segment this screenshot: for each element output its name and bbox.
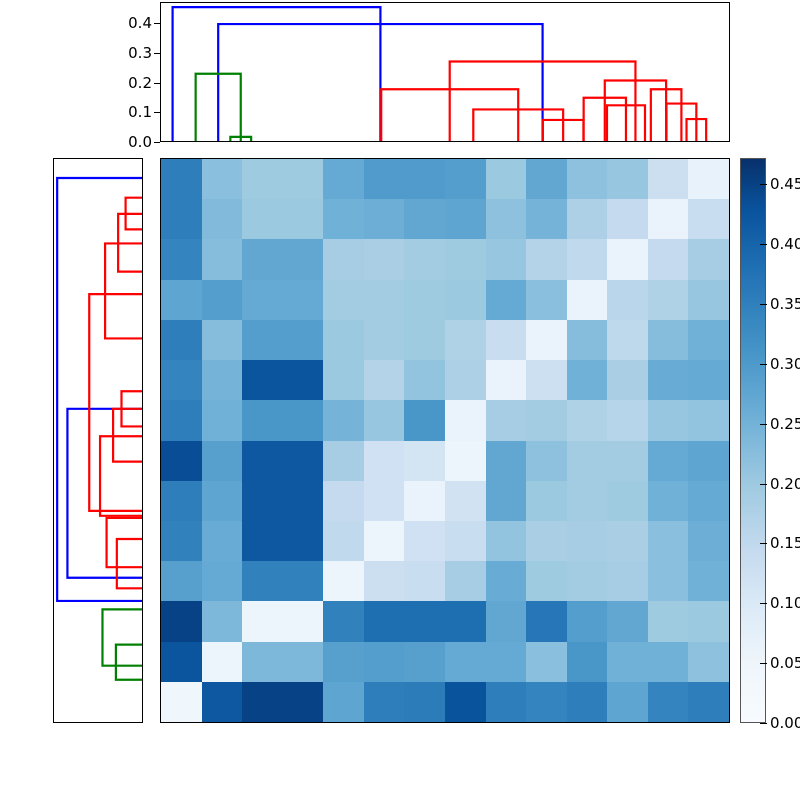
- heatmap-cell: [486, 561, 527, 601]
- heatmap-cell: [648, 280, 689, 320]
- heatmap-cell: [404, 642, 445, 682]
- heatmap-cell: [445, 682, 486, 722]
- heatmap-cell: [202, 601, 243, 641]
- heatmap-cell: [404, 601, 445, 641]
- heatmap-cell: [242, 682, 283, 722]
- heatmap-cell: [364, 561, 405, 601]
- heatmap-cell: [648, 561, 689, 601]
- heatmap-cell: [404, 239, 445, 279]
- heatmap-cell: [323, 441, 364, 481]
- heatmap-cell: [364, 481, 405, 521]
- heatmap-cell: [648, 642, 689, 682]
- heatmap-cell: [283, 320, 324, 360]
- heatmap-cell: [526, 561, 567, 601]
- heatmap-cell: [445, 642, 486, 682]
- heatmap-cell: [161, 682, 202, 722]
- heatmap-cell: [526, 481, 567, 521]
- heatmap-cell: [445, 521, 486, 561]
- heatmap-cell: [688, 642, 729, 682]
- heatmap-cell: [161, 561, 202, 601]
- heatmap-cell: [323, 360, 364, 400]
- colorbar-tick-mark: [760, 304, 767, 305]
- heatmap-cell: [161, 601, 202, 641]
- heatmap-cell: [607, 441, 648, 481]
- heatmap-cell: [607, 320, 648, 360]
- colorbar-tick-label: 0.30: [770, 355, 800, 373]
- colorbar-tick-mark: [760, 184, 767, 185]
- heatmap-cell: [486, 159, 527, 199]
- heatmap-cell: [567, 481, 608, 521]
- heatmap-cell: [688, 441, 729, 481]
- heatmap-cell: [323, 481, 364, 521]
- heatmap-cell: [567, 360, 608, 400]
- heatmap-cell: [283, 199, 324, 239]
- heatmap-cell: [526, 159, 567, 199]
- colorbar-tick-mark: [760, 603, 767, 604]
- heatmap-cell: [242, 360, 283, 400]
- col-dendrogram: [160, 2, 730, 142]
- heatmap-cell: [404, 199, 445, 239]
- colorbar-tick-label: 0.15: [770, 534, 800, 552]
- colorbar-tick-mark: [760, 424, 767, 425]
- heatmap-cell: [688, 521, 729, 561]
- heatmap-cell: [567, 320, 608, 360]
- heatmap-cell: [526, 441, 567, 481]
- heatmap-cell: [607, 642, 648, 682]
- heatmap-cell: [445, 159, 486, 199]
- heatmap-cell: [526, 521, 567, 561]
- heatmap-cell: [161, 360, 202, 400]
- heatmap-cell: [242, 159, 283, 199]
- heatmap-cell: [526, 199, 567, 239]
- col-dendrogram-svg: [161, 3, 729, 141]
- heatmap-cell: [283, 642, 324, 682]
- heatmap-cell: [445, 481, 486, 521]
- colorbar-tick-mark: [760, 663, 767, 664]
- heatmap-cell: [202, 642, 243, 682]
- colorbar-tick-label: 0.45: [770, 175, 800, 193]
- heatmap-cell: [486, 441, 527, 481]
- heatmap-cell: [688, 320, 729, 360]
- colorbar-tick-label: 0.20: [770, 475, 800, 493]
- heatmap-cell: [445, 561, 486, 601]
- heatmap-cell: [283, 521, 324, 561]
- heatmap-cell: [648, 441, 689, 481]
- heatmap-cell: [648, 360, 689, 400]
- heatmap-cell: [526, 601, 567, 641]
- heatmap-cell: [688, 601, 729, 641]
- heatmap-cell: [202, 682, 243, 722]
- heatmap-cell: [607, 280, 648, 320]
- heatmap-cell: [486, 601, 527, 641]
- heatmap-cell: [567, 441, 608, 481]
- heatmap-cell: [688, 481, 729, 521]
- heatmap-cell: [404, 561, 445, 601]
- heatmap-cell: [445, 441, 486, 481]
- heatmap-cell: [486, 320, 527, 360]
- heatmap-cell: [202, 441, 243, 481]
- heatmap-cell: [283, 400, 324, 440]
- heatmap-cell: [688, 682, 729, 722]
- heatmap-cell: [242, 521, 283, 561]
- row-dendrogram-link: [57, 178, 142, 601]
- colorbar-tick-label: 0.10: [770, 594, 800, 612]
- heatmap-cell: [486, 642, 527, 682]
- heatmap-cell: [364, 239, 405, 279]
- row-dendrogram-link: [100, 436, 142, 516]
- heatmap-cell: [648, 199, 689, 239]
- colorbar-tick-mark: [760, 484, 767, 485]
- heatmap-cell: [688, 561, 729, 601]
- row-dendrogram-link: [116, 645, 142, 680]
- heatmap-cell: [161, 239, 202, 279]
- col-axis-tick-label: 0.1: [128, 103, 152, 121]
- heatmap-cell: [486, 481, 527, 521]
- heatmap-cell: [567, 239, 608, 279]
- heatmap-cell: [364, 199, 405, 239]
- heatmap-grid: [161, 159, 729, 722]
- row-dendrogram: [53, 158, 143, 723]
- col-axis-tick-mark: [154, 142, 160, 143]
- colorbar-ticks: 0.450.400.350.300.250.200.150.100.050.00: [740, 158, 800, 723]
- heatmap-cell: [567, 521, 608, 561]
- col-axis-tick-label: 0.2: [128, 74, 152, 92]
- heatmap-cell: [283, 682, 324, 722]
- heatmap-cell: [364, 360, 405, 400]
- heatmap-cell: [445, 400, 486, 440]
- colorbar-tick-label: 0.00: [770, 714, 800, 732]
- heatmap-cell: [202, 561, 243, 601]
- heatmap-cell: [445, 360, 486, 400]
- heatmap-cell: [283, 239, 324, 279]
- heatmap-cell: [486, 280, 527, 320]
- heatmap-cell: [202, 320, 243, 360]
- heatmap-cell: [648, 400, 689, 440]
- heatmap-cell: [161, 320, 202, 360]
- heatmap-cell: [364, 521, 405, 561]
- heatmap-cell: [607, 400, 648, 440]
- heatmap-cell: [161, 199, 202, 239]
- heatmap-cell: [364, 601, 405, 641]
- heatmap-cell: [202, 280, 243, 320]
- heatmap-cell: [202, 360, 243, 400]
- colorbar-tick-mark: [760, 364, 767, 365]
- heatmap-cell: [648, 601, 689, 641]
- heatmap-cell: [161, 280, 202, 320]
- heatmap-cell: [283, 159, 324, 199]
- heatmap-cell: [323, 561, 364, 601]
- heatmap-cell: [445, 320, 486, 360]
- heatmap-cell: [648, 481, 689, 521]
- heatmap-cell: [567, 400, 608, 440]
- heatmap-cell: [688, 360, 729, 400]
- colorbar-tick-label: 0.05: [770, 654, 800, 672]
- heatmap-cell: [526, 360, 567, 400]
- colorbar-tick-mark: [760, 543, 767, 544]
- heatmap-cell: [161, 400, 202, 440]
- heatmap-cell: [404, 159, 445, 199]
- heatmap-cell: [648, 320, 689, 360]
- heatmap-cell: [242, 561, 283, 601]
- heatmap-cell: [648, 521, 689, 561]
- row-dendrogram-link: [89, 294, 142, 511]
- heatmap-cell: [607, 199, 648, 239]
- heatmap-cell: [526, 400, 567, 440]
- colorbar-tick-mark: [760, 723, 767, 724]
- heatmap-cell: [323, 521, 364, 561]
- heatmap-cell: [161, 642, 202, 682]
- colorbar-tick-mark: [760, 244, 767, 245]
- heatmap-cell: [323, 642, 364, 682]
- heatmap-cell: [202, 199, 243, 239]
- heatmap-cell: [607, 561, 648, 601]
- heatmap-cell: [323, 601, 364, 641]
- heatmap-cell: [323, 682, 364, 722]
- heatmap-cell: [283, 561, 324, 601]
- heatmap-cell: [364, 280, 405, 320]
- heatmap-cell: [607, 682, 648, 722]
- row-dendrogram-link: [117, 539, 142, 588]
- heatmap-cell: [283, 280, 324, 320]
- heatmap-cell: [242, 481, 283, 521]
- heatmap-cell: [323, 280, 364, 320]
- heatmap-cell: [486, 521, 527, 561]
- heatmap-cell: [161, 159, 202, 199]
- heatmap-cell: [283, 360, 324, 400]
- heatmap-cell: [486, 360, 527, 400]
- heatmap-cell: [567, 561, 608, 601]
- row-dendrogram-svg: [54, 159, 142, 722]
- heatmap-cell: [607, 481, 648, 521]
- heatmap-cell: [323, 239, 364, 279]
- heatmap-cell: [404, 360, 445, 400]
- heatmap-cell: [364, 642, 405, 682]
- heatmap-cell: [283, 481, 324, 521]
- heatmap-cell: [607, 239, 648, 279]
- heatmap-cell: [242, 441, 283, 481]
- heatmap-cell: [161, 481, 202, 521]
- heatmap-cell: [404, 481, 445, 521]
- heatmap-cell: [242, 199, 283, 239]
- heatmap-cell: [526, 239, 567, 279]
- heatmap-cell: [688, 280, 729, 320]
- heatmap-cell: [567, 601, 608, 641]
- heatmap-cell: [404, 521, 445, 561]
- heatmap-cell: [486, 239, 527, 279]
- heatmap-cell: [526, 280, 567, 320]
- row-dendrogram-link: [105, 243, 142, 338]
- heatmap-cell: [526, 642, 567, 682]
- colorbar-tick-label: 0.25: [770, 415, 800, 433]
- heatmap-cell: [567, 280, 608, 320]
- heatmap-cell: [648, 239, 689, 279]
- heatmap-cell: [242, 320, 283, 360]
- heatmap-cell: [242, 400, 283, 440]
- heatmap-cell: [323, 400, 364, 440]
- heatmap-cell: [283, 441, 324, 481]
- heatmap-cell: [445, 601, 486, 641]
- col-axis-tick-label: 0.4: [128, 14, 152, 32]
- col-dendrogram-axis: 0.40.30.20.10.0: [118, 2, 160, 142]
- heatmap-cell: [607, 360, 648, 400]
- heatmap-cell: [607, 521, 648, 561]
- heatmap-cell: [526, 320, 567, 360]
- heatmap-cell: [283, 601, 324, 641]
- heatmap-cell: [404, 682, 445, 722]
- heatmap-cell: [202, 400, 243, 440]
- row-dendrogram-link: [67, 409, 142, 578]
- heatmap-cell: [688, 199, 729, 239]
- heatmap-cell: [202, 239, 243, 279]
- heatmap-cell: [161, 441, 202, 481]
- heatmap-cell: [404, 320, 445, 360]
- heatmap-cell: [364, 682, 405, 722]
- heatmap-cell: [445, 199, 486, 239]
- heatmap-cell: [202, 481, 243, 521]
- heatmap-cell: [404, 400, 445, 440]
- row-dendrogram-link: [102, 609, 142, 665]
- heatmap-cell: [688, 239, 729, 279]
- colorbar-tick-label: 0.40: [770, 235, 800, 253]
- row-dendrogram-link: [107, 518, 142, 567]
- heatmap-cell: [688, 400, 729, 440]
- heatmap-cell: [567, 159, 608, 199]
- heatmap-cell: [486, 199, 527, 239]
- heatmap-cell: [364, 400, 405, 440]
- col-axis-tick-label: 0.3: [128, 44, 152, 62]
- heatmap-cell: [242, 601, 283, 641]
- heatmap-cell: [323, 159, 364, 199]
- heatmap-cell: [688, 159, 729, 199]
- heatmap-cell: [404, 280, 445, 320]
- heatmap-cell: [404, 441, 445, 481]
- heatmap-cell: [202, 521, 243, 561]
- heatmap-cell: [323, 199, 364, 239]
- heatmap-cell: [364, 320, 405, 360]
- heatmap-cell: [486, 682, 527, 722]
- heatmap-cell: [567, 199, 608, 239]
- heatmap-cell: [607, 159, 648, 199]
- heatmap-cell: [567, 682, 608, 722]
- heatmap-cell: [526, 682, 567, 722]
- heatmap-cell: [567, 642, 608, 682]
- heatmap[interactable]: [160, 158, 730, 723]
- heatmap-cell: [202, 159, 243, 199]
- heatmap-cell: [607, 601, 648, 641]
- heatmap-cell: [364, 159, 405, 199]
- heatmap-cell: [648, 682, 689, 722]
- heatmap-cell: [364, 441, 405, 481]
- colorbar-tick-label: 0.35: [770, 295, 800, 313]
- heatmap-cell: [242, 642, 283, 682]
- heatmap-cell: [242, 280, 283, 320]
- heatmap-cell: [486, 400, 527, 440]
- heatmap-cell: [242, 239, 283, 279]
- col-axis-tick-label: 0.0: [128, 133, 152, 151]
- heatmap-cell: [445, 280, 486, 320]
- heatmap-cell: [445, 239, 486, 279]
- heatmap-cell: [161, 521, 202, 561]
- heatmap-cell: [323, 320, 364, 360]
- heatmap-cell: [648, 159, 689, 199]
